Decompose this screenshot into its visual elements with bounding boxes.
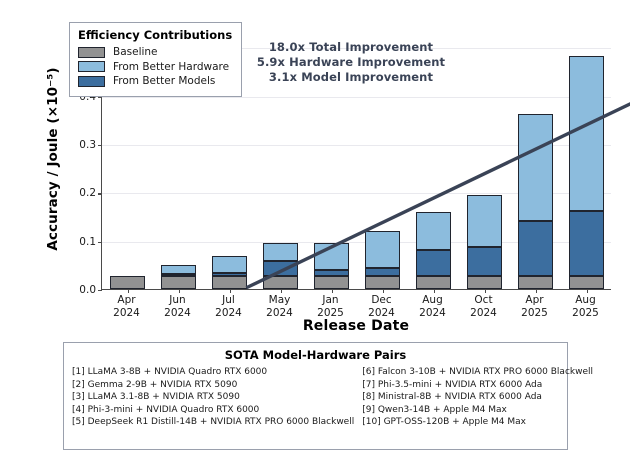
- x-tick-label: Apr2024: [113, 294, 140, 319]
- sota-pairs-table: SOTA Model-Hardware Pairs [1] LLaMA 3-8B…: [63, 342, 568, 450]
- x-tick-mark: [536, 289, 537, 293]
- bar-segment-base[interactable]: [569, 276, 605, 289]
- sota-pairs-left-column: [1] LLaMA 3-8B + NVIDIA Quadro RTX 6000[…: [72, 366, 354, 429]
- bar-segment-model[interactable]: [212, 273, 248, 276]
- legend-item-label: From Better Hardware: [113, 61, 229, 73]
- y-tick-label: 0.3: [79, 139, 96, 151]
- x-tick-label: Aug2025: [572, 294, 599, 319]
- annotation-line: 5.9x Hardware Improvement: [236, 55, 466, 70]
- legend-item[interactable]: From Better Hardware: [78, 61, 232, 73]
- legend-swatch-icon: [78, 47, 105, 58]
- legend-swatch-icon: [78, 61, 105, 72]
- y-tick-mark: [98, 290, 102, 291]
- bar-segment-base[interactable]: [161, 276, 197, 289]
- x-tick-mark: [179, 289, 180, 293]
- sota-pair-row: [10] GPT-OSS-120B + Apple M4 Max: [362, 416, 593, 429]
- x-tick-label: Aug2024: [419, 294, 446, 319]
- legend-item[interactable]: From Better Models: [78, 75, 232, 87]
- bar-segment-base[interactable]: [110, 276, 146, 289]
- bar-group[interactable]: [263, 243, 299, 289]
- x-tick-label: Oct2024: [470, 294, 497, 319]
- sota-pairs-right-column: [6] Falcon 3-10B + NVIDIA RTX PRO 6000 B…: [354, 366, 593, 429]
- sota-pair-row: [4] Phi-3-mini + NVIDIA Quadro RTX 6000: [72, 404, 354, 417]
- bar-segment-model[interactable]: [518, 221, 554, 276]
- x-tick-mark: [485, 289, 486, 293]
- bar-segment-base[interactable]: [467, 276, 503, 289]
- bar-group[interactable]: [365, 231, 401, 289]
- bar-segment-model[interactable]: [365, 268, 401, 276]
- x-tick-mark: [230, 289, 231, 293]
- bar-segment-base[interactable]: [518, 276, 554, 289]
- sota-pair-row: [1] LLaMA 3-8B + NVIDIA Quadro RTX 6000: [72, 366, 354, 379]
- legend-title: Efficiency Contributions: [78, 28, 232, 42]
- y-tick-label: 0.1: [79, 236, 96, 248]
- legend-item[interactable]: Baseline: [78, 46, 232, 58]
- bar-segment-hw[interactable]: [518, 114, 554, 221]
- x-tick-label: Jul2024: [215, 294, 242, 319]
- annotation-line: 3.1x Model Improvement: [236, 70, 466, 85]
- improvement-annotation: 18.0x Total Improvement5.9x Hardware Imp…: [236, 40, 466, 85]
- bar-segment-base[interactable]: [365, 276, 401, 289]
- sota-pair-row: [3] LLaMA 3.1-8B + NVIDIA RTX 5090: [72, 391, 354, 404]
- y-tick-label: 0.0: [79, 284, 96, 296]
- bar-segment-base[interactable]: [263, 276, 299, 289]
- chart-root: Accuracy / Joule (×10⁻⁵) 0.00.10.20.30.4…: [0, 0, 630, 457]
- x-tick-mark: [281, 289, 282, 293]
- bar-segment-hw[interactable]: [365, 231, 401, 269]
- bar-segment-hw[interactable]: [161, 265, 197, 273]
- sota-pair-row: [9] Qwen3-14B + Apple M4 Max: [362, 404, 593, 417]
- x-tick-label: Jan2025: [317, 294, 344, 319]
- y-axis-label-container: Accuracy / Joule (×10⁻⁵): [22, 34, 52, 290]
- bar-group[interactable]: [314, 243, 350, 289]
- bar-group[interactable]: [467, 195, 503, 289]
- x-tick-mark: [128, 289, 129, 293]
- bar-group[interactable]: [212, 256, 248, 289]
- bar-group[interactable]: [518, 114, 554, 289]
- legend-items: BaselineFrom Better HardwareFrom Better …: [78, 46, 232, 87]
- sota-pair-row: [6] Falcon 3-10B + NVIDIA RTX PRO 6000 B…: [362, 366, 593, 379]
- bar-segment-hw[interactable]: [416, 212, 452, 251]
- bar-segment-base[interactable]: [212, 276, 248, 289]
- x-tick-label: Jun2024: [164, 294, 191, 319]
- bar-group[interactable]: [110, 276, 146, 289]
- sota-pairs-title: SOTA Model-Hardware Pairs: [72, 348, 559, 362]
- bar-segment-hw[interactable]: [263, 243, 299, 260]
- legend-item-label: From Better Models: [113, 75, 215, 87]
- bar-segment-model[interactable]: [161, 274, 197, 276]
- bar-segment-base[interactable]: [314, 276, 350, 289]
- bar-segment-hw[interactable]: [212, 256, 248, 272]
- y-tick-label: 0.2: [79, 187, 96, 199]
- bar-segment-hw[interactable]: [314, 243, 350, 270]
- legend-swatch-icon: [78, 76, 105, 87]
- bar-segment-model[interactable]: [314, 270, 350, 276]
- bar-segment-model[interactable]: [569, 211, 605, 276]
- bar-segment-model[interactable]: [467, 247, 503, 276]
- x-tick-mark: [332, 289, 333, 293]
- bar-group[interactable]: [416, 212, 452, 289]
- annotation-line: 18.0x Total Improvement: [236, 40, 466, 55]
- bar-segment-hw[interactable]: [569, 56, 605, 212]
- bar-segment-base[interactable]: [416, 276, 452, 289]
- x-axis-label: Release Date: [101, 318, 611, 334]
- sota-pair-row: [8] Ministral-8B + NVIDIA RTX 6000 Ada: [362, 391, 593, 404]
- bar-group[interactable]: [161, 265, 197, 289]
- legend: Efficiency Contributions BaselineFrom Be…: [69, 22, 242, 97]
- sota-pair-row: [2] Gemma 2-9B + NVIDIA RTX 5090: [72, 379, 354, 392]
- x-tick-mark: [383, 289, 384, 293]
- legend-item-label: Baseline: [113, 46, 158, 58]
- x-tick-label: Dec2024: [368, 294, 395, 319]
- x-tick-mark: [434, 289, 435, 293]
- sota-pair-row: [5] DeepSeek R1 Distill-14B + NVIDIA RTX…: [72, 416, 354, 429]
- bar-segment-hw[interactable]: [467, 195, 503, 246]
- bar-group[interactable]: [569, 56, 605, 289]
- x-tick-label: Apr2025: [521, 294, 548, 319]
- x-tick-label: May2024: [266, 294, 293, 319]
- bar-segment-model[interactable]: [263, 261, 299, 276]
- sota-pair-row: [7] Phi-3.5-mini + NVIDIA RTX 6000 Ada: [362, 379, 593, 392]
- bar-segment-model[interactable]: [416, 250, 452, 276]
- x-tick-mark: [587, 289, 588, 293]
